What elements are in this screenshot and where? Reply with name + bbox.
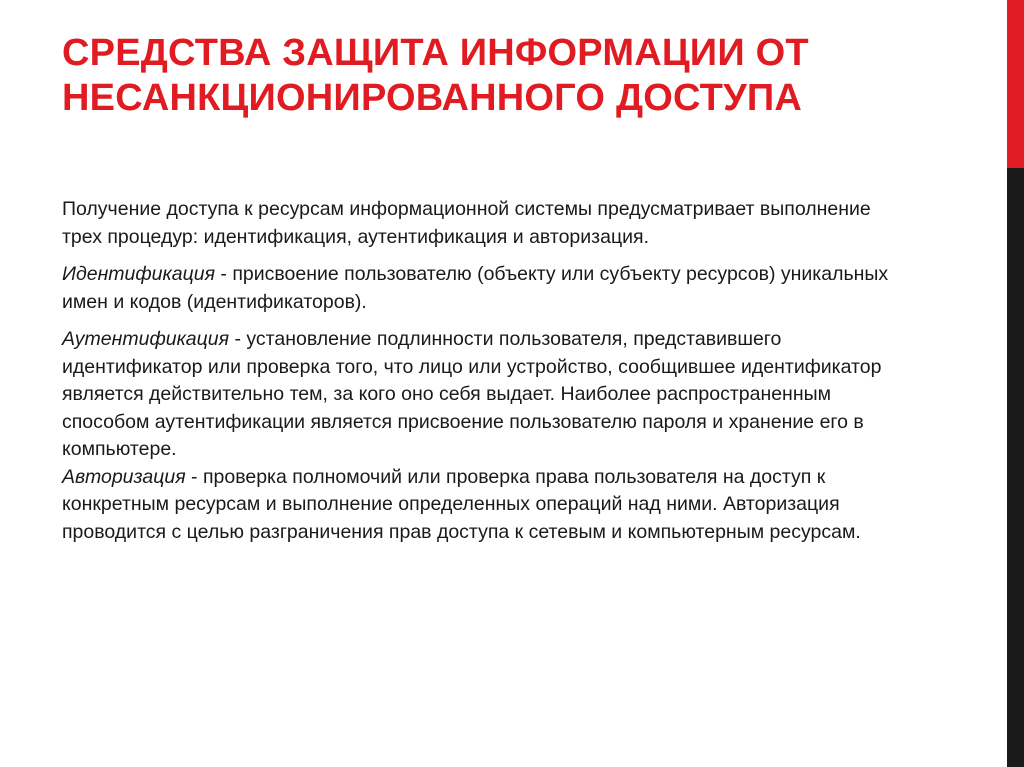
term-authentication: Аутентификация [62,328,229,350]
paragraph-intro: Получение доступа к ресурсам информацион… [62,196,892,251]
paragraph-identification: Идентификация - присвоение пользователю … [62,261,892,316]
slide-body: Получение доступа к ресурсам информацион… [62,196,892,546]
paragraph-intro-text: Получение доступа к ресурсам информацион… [62,198,871,248]
decorative-bar-dark [1007,168,1024,767]
decorative-bar-red [1007,0,1024,168]
paragraph-authentication: Аутентификация - установление подлинност… [62,326,892,464]
term-authorization: Авторизация [62,466,186,488]
page-title: СРЕДСТВА ЗАЩИТА ИНФОРМАЦИИ ОТ НЕСАНКЦИОН… [62,31,962,121]
term-identification: Идентификация [62,263,215,285]
slide-root: СРЕДСТВА ЗАЩИТА ИНФОРМАЦИИ ОТ НЕСАНКЦИОН… [0,0,1024,767]
paragraph-authorization: Авторизация - проверка полномочий или пр… [62,464,892,547]
